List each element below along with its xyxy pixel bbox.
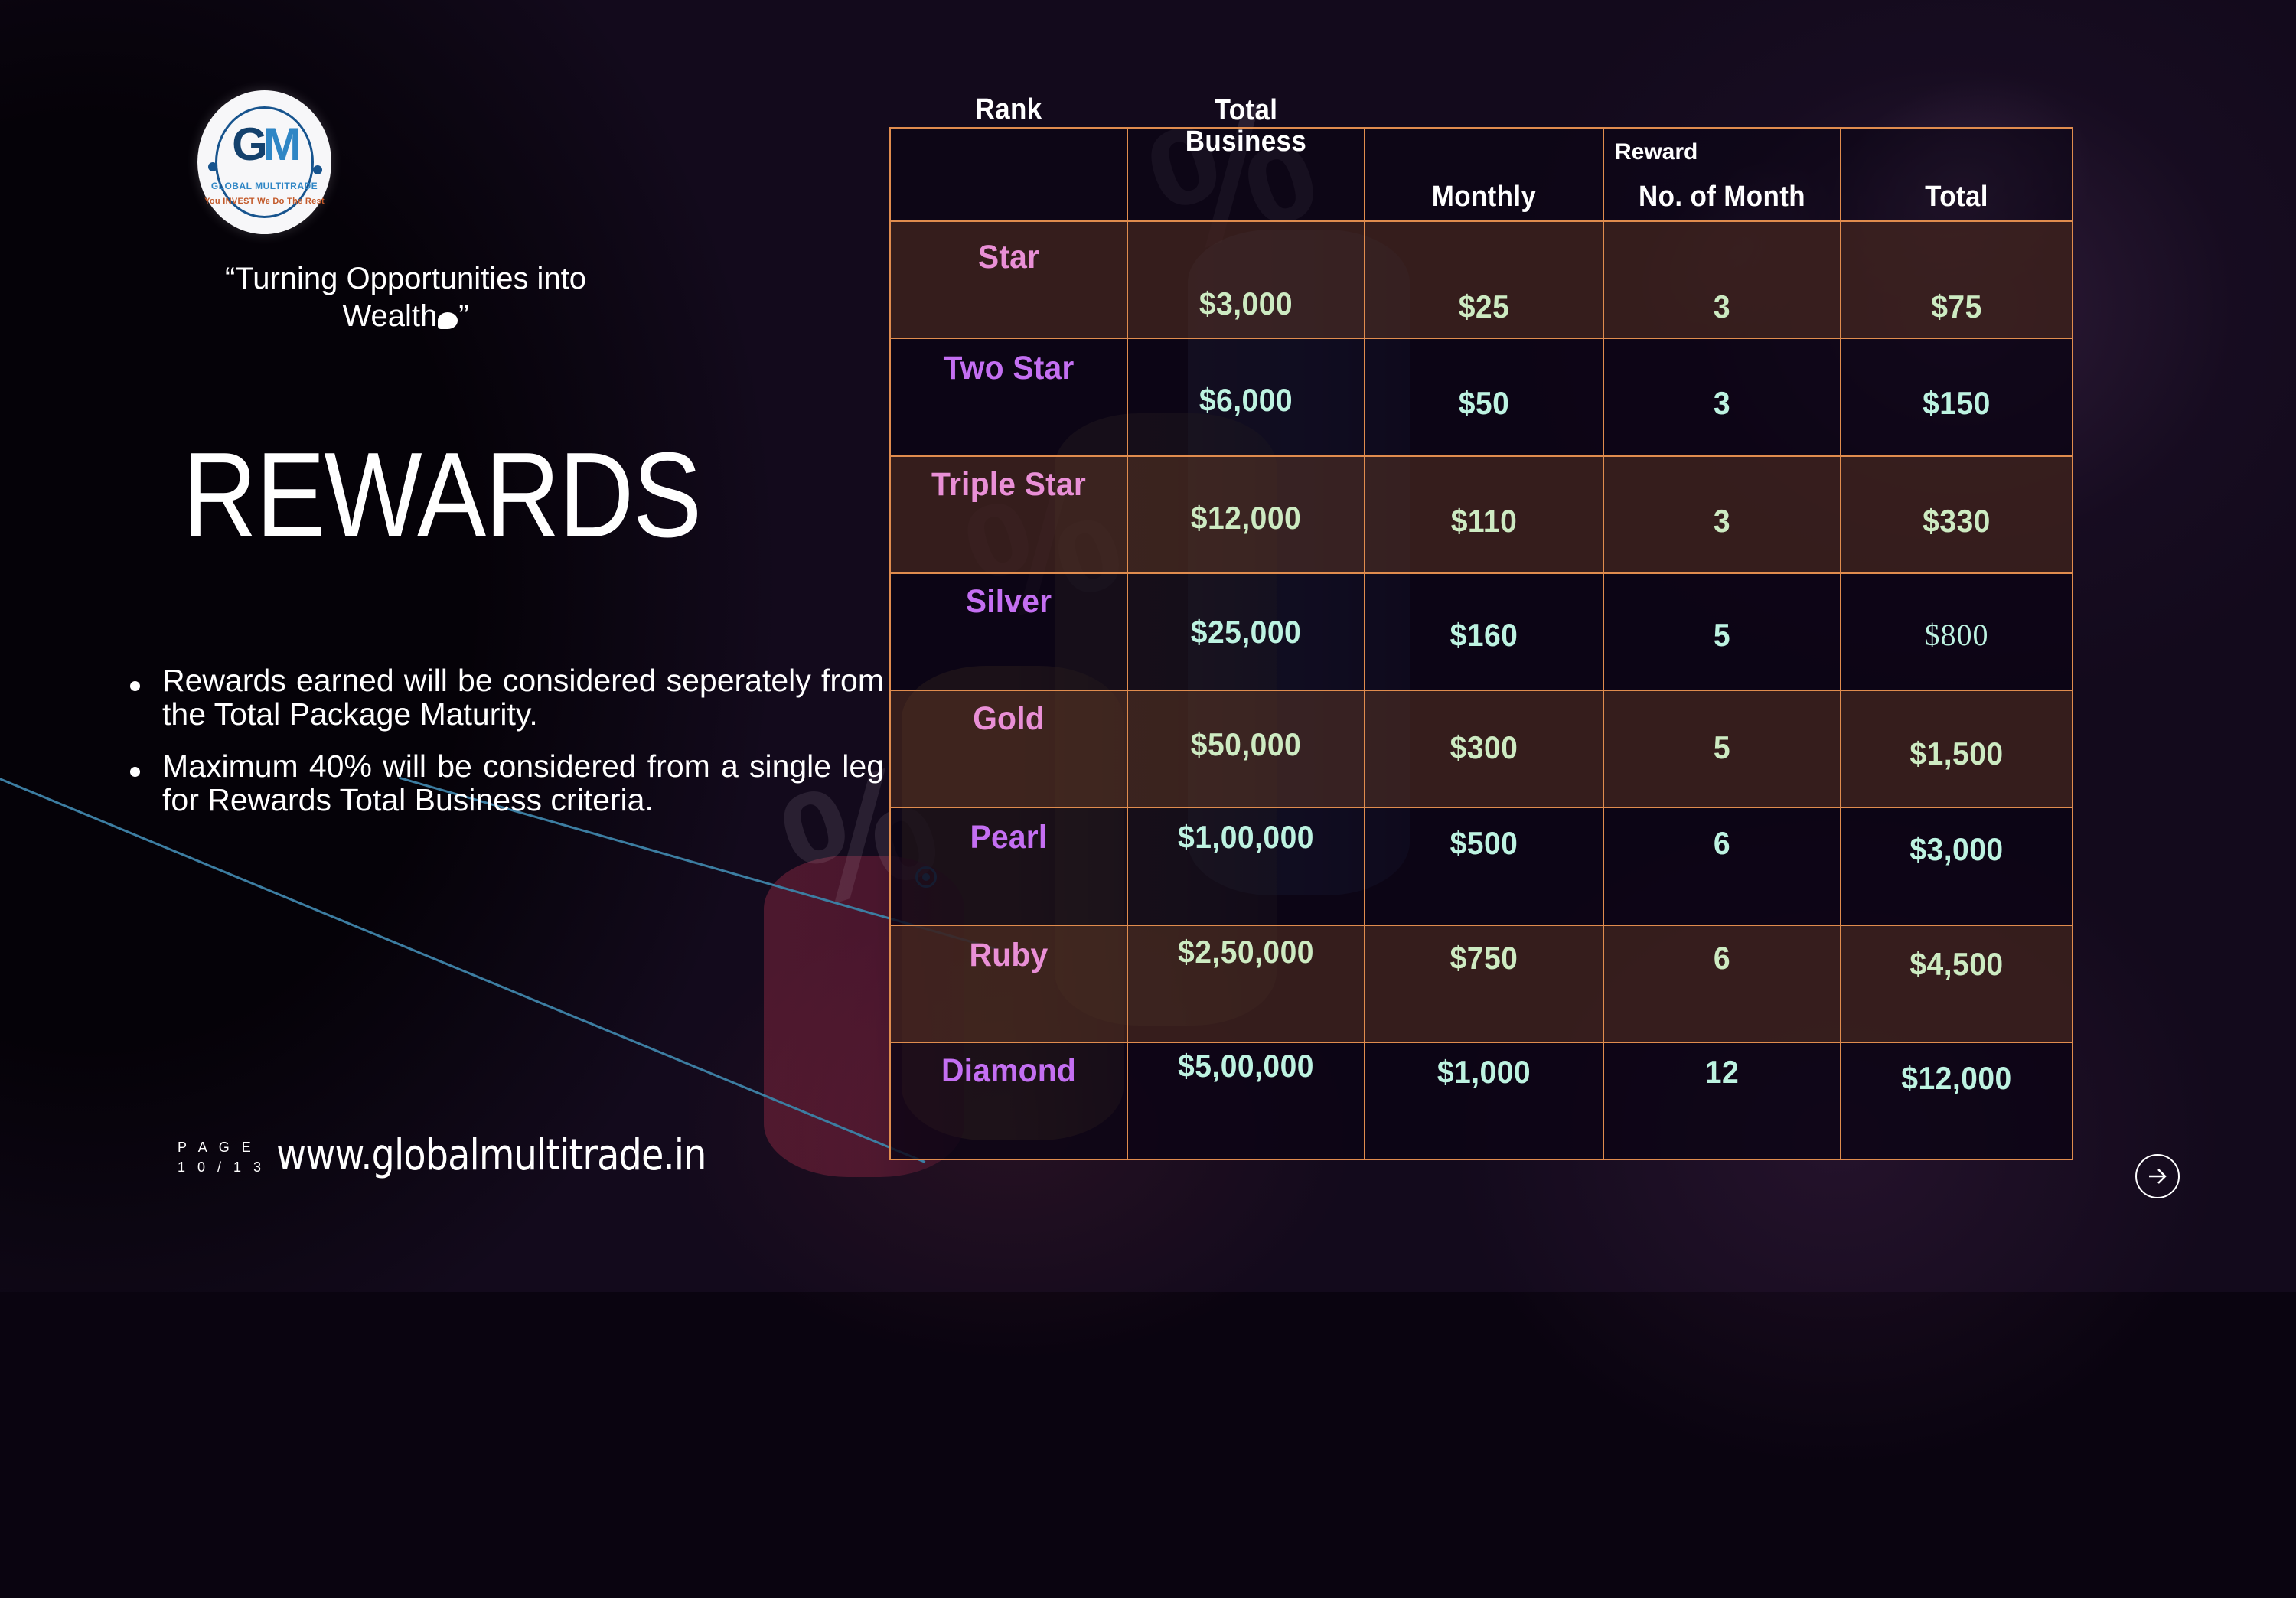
- column-header-no-of-month: No. of Month: [1613, 181, 1830, 214]
- bullet-dot-icon: [130, 681, 140, 691]
- header-cell-no-of-month: Reward No. of Month: [1603, 128, 1841, 221]
- total-value: $12,000: [1850, 1060, 2064, 1097]
- total-business-value: $1,00,000: [1137, 819, 1355, 856]
- column-header-total-business: TotalBusiness: [1137, 95, 1354, 158]
- cell-rank: Silver: [890, 573, 1127, 690]
- cell-monthly: $1,000: [1365, 1042, 1603, 1159]
- cell-rank: Gold: [890, 690, 1127, 807]
- cell-rank: Triple Star: [890, 456, 1127, 573]
- cell-monthly: $300: [1365, 690, 1603, 807]
- bullet-text: Rewards earned will be considered sepera…: [162, 664, 884, 732]
- header-cell-total: Total: [1841, 128, 2073, 221]
- cell-no-of-month: 6: [1603, 807, 1841, 925]
- monthly-value: $110: [1374, 503, 1594, 540]
- list-item: Rewards earned will be considered sepera…: [115, 664, 884, 732]
- monthly-value: $25: [1374, 289, 1594, 325]
- table-header-row: Rank TotalBusiness Monthly Reward No. of…: [890, 128, 2073, 221]
- rank-label: Gold: [897, 700, 1121, 738]
- column-header-monthly: Monthly: [1375, 181, 1593, 214]
- cell-total-business: $25,000: [1127, 573, 1365, 690]
- tagline-line-2: Wealth: [342, 299, 437, 333]
- table-row: Star $3,000 $25 3 $75: [890, 221, 2073, 338]
- rank-label: Two Star: [897, 350, 1121, 387]
- logo-initials: GM: [197, 122, 331, 168]
- cell-rank: Star: [890, 221, 1127, 338]
- no-of-month-value: 12: [1613, 1054, 1831, 1091]
- tagline-line-1: “Turning Opportunities into: [225, 262, 586, 295]
- cell-monthly: $500: [1365, 807, 1603, 925]
- logo-motto: You INVEST We Do The Rest: [197, 197, 331, 206]
- total-value: $4,500: [1850, 946, 2064, 983]
- cell-total: $330: [1841, 456, 2073, 573]
- cell-rank: Two Star: [890, 338, 1127, 455]
- rank-label: Ruby: [897, 937, 1121, 974]
- next-slide-button[interactable]: [2135, 1154, 2180, 1198]
- no-of-month-value: 6: [1613, 825, 1831, 862]
- total-business-value: $5,00,000: [1137, 1048, 1355, 1084]
- total-business-value: $2,50,000: [1137, 934, 1355, 970]
- cell-no-of-month: 3: [1603, 221, 1841, 338]
- total-value: $150: [1850, 385, 2064, 422]
- page-title: REWARDS: [182, 438, 775, 553]
- tagline-close-quote: ”: [458, 299, 468, 333]
- cell-monthly: $750: [1365, 925, 1603, 1042]
- total-business-value: $3,000: [1137, 285, 1355, 322]
- rank-label: Diamond: [897, 1052, 1121, 1090]
- cell-total-business: $1,00,000: [1127, 807, 1365, 925]
- no-of-month-value: 3: [1613, 385, 1831, 422]
- total-business-value: $50,000: [1137, 726, 1355, 763]
- cell-total: $75: [1841, 221, 2073, 338]
- cell-no-of-month: 12: [1603, 1042, 1841, 1159]
- list-item: Maximum 40% will be considered from a si…: [115, 750, 884, 817]
- monthly-value: $160: [1374, 617, 1594, 654]
- website-url[interactable]: www.globalmultitrade.in: [276, 1130, 706, 1180]
- total-value: $75: [1850, 289, 2064, 325]
- cell-total: $3,000: [1841, 807, 2073, 925]
- arrow-right-icon: [2144, 1163, 2170, 1189]
- table-row: Ruby $2,50,000 $750 6 $4,500: [890, 925, 2073, 1042]
- no-of-month-value: 3: [1613, 503, 1831, 540]
- table-row: Diamond $5,00,000 $1,000 12 $12,000: [890, 1042, 2073, 1159]
- total-value: $800: [1841, 617, 2072, 653]
- page-indicator: P A G E 1 0 / 1 3: [178, 1137, 266, 1177]
- monthly-value: $50: [1374, 385, 1594, 422]
- cell-rank: Pearl: [890, 807, 1127, 925]
- tagline: “Turning Opportunities into Wealth”: [153, 260, 658, 335]
- rewards-table: Rank TotalBusiness Monthly Reward No. of…: [889, 127, 2072, 1160]
- table-row: Triple Star $12,000 $110 3 $330: [890, 456, 2073, 573]
- cell-no-of-month: 3: [1603, 456, 1841, 573]
- cell-no-of-month: 6: [1603, 925, 1841, 1042]
- logo-company-name: GLOBAL MULTITRADE: [197, 181, 331, 191]
- cell-total: $150: [1841, 338, 2073, 455]
- total-business-value: $12,000: [1137, 500, 1355, 536]
- monthly-value: $300: [1374, 729, 1594, 766]
- rank-label: Pearl: [897, 819, 1121, 856]
- monthly-value: $500: [1374, 825, 1594, 862]
- cell-total: $1,500: [1841, 690, 2073, 807]
- cell-monthly: $160: [1365, 573, 1603, 690]
- table-row: Silver $25,000 $160 5 $800: [890, 573, 2073, 690]
- speech-bubble-icon: [438, 312, 458, 329]
- monthly-value: $750: [1374, 940, 1594, 977]
- bullet-list: Rewards earned will be considered sepera…: [115, 664, 884, 835]
- bullet-dot-icon: [130, 767, 140, 777]
- cell-monthly: $50: [1365, 338, 1603, 455]
- column-header-rank: Rank: [900, 93, 1117, 126]
- cell-total-business: $5,00,000: [1127, 1042, 1365, 1159]
- cell-total: $4,500: [1841, 925, 2073, 1042]
- no-of-month-value: 5: [1613, 729, 1831, 766]
- column-group-header-reward: Reward: [1615, 139, 1698, 165]
- total-value: $1,500: [1850, 735, 2064, 772]
- cell-no-of-month: 5: [1603, 690, 1841, 807]
- no-of-month-value: 6: [1613, 940, 1831, 977]
- table-row: Gold $50,000 $300 5 $1,500: [890, 690, 2073, 807]
- no-of-month-value: 3: [1613, 289, 1831, 325]
- cell-total-business: $6,000: [1127, 338, 1365, 455]
- cell-total-business: $2,50,000: [1127, 925, 1365, 1042]
- monthly-value: $1,000: [1374, 1054, 1594, 1091]
- cell-no-of-month: 5: [1603, 573, 1841, 690]
- total-business-value: $25,000: [1137, 614, 1355, 651]
- company-logo: GM GLOBAL MULTITRADE You INVEST We Do Th…: [197, 90, 331, 234]
- total-value: $3,000: [1850, 831, 2064, 868]
- header-cell-monthly: Monthly: [1365, 128, 1603, 221]
- no-of-month-value: 5: [1613, 617, 1831, 654]
- cell-total: $800: [1841, 573, 2073, 690]
- cell-total: $12,000: [1841, 1042, 2073, 1159]
- header-cell-total-business: TotalBusiness: [1127, 128, 1365, 221]
- rank-label: Triple Star: [897, 466, 1121, 504]
- cell-rank: Diamond: [890, 1042, 1127, 1159]
- header-cell-rank: Rank: [890, 128, 1127, 221]
- table-row: Two Star $6,000 $50 3 $150: [890, 338, 2073, 455]
- cell-total-business: $50,000: [1127, 690, 1365, 807]
- column-header-total: Total: [1851, 181, 2063, 214]
- bullet-text: Maximum 40% will be considered from a si…: [162, 750, 884, 817]
- page-label: P A G E: [178, 1137, 266, 1157]
- page-number: 1 0 / 1 3: [178, 1157, 266, 1177]
- total-business-value: $6,000: [1137, 382, 1355, 419]
- total-value: $330: [1850, 503, 2064, 540]
- cell-monthly: $110: [1365, 456, 1603, 573]
- table-row: Pearl $1,00,000 $500 6 $3,000: [890, 807, 2073, 925]
- rank-label: Silver: [897, 583, 1121, 621]
- footer: P A G E 1 0 / 1 3 www.globalmultitrade.i…: [178, 1134, 743, 1180]
- cell-no-of-month: 3: [1603, 338, 1841, 455]
- cell-monthly: $25: [1365, 221, 1603, 338]
- cell-total-business: $3,000: [1127, 221, 1365, 338]
- rank-label: Star: [897, 239, 1121, 276]
- cell-rank: Ruby: [890, 925, 1127, 1042]
- cell-total-business: $12,000: [1127, 456, 1365, 573]
